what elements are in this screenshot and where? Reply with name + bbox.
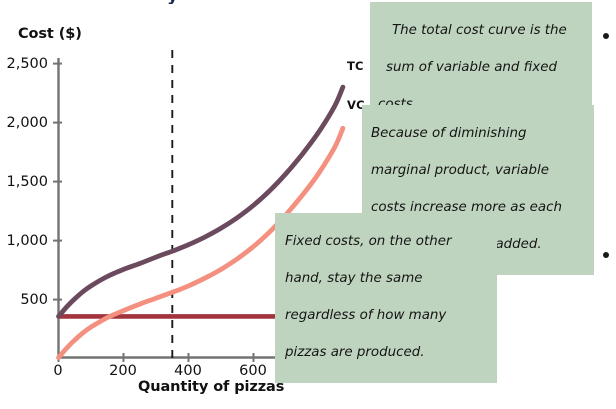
annotation-total-cost-line-2: sum of variable and fixed — [376, 59, 587, 78]
slide-bullet-icon-1 — [603, 33, 609, 39]
annotation-fixed-cost-line-3: regardless of how many — [281, 307, 492, 326]
annotation-fixed-cost-line-2: hand, stay the same — [281, 270, 492, 289]
annotation-total-cost-line-1: The total cost curve is the — [376, 22, 587, 41]
y-tick-label-1000: 1,000 — [0, 233, 48, 249]
y-tick-label-2500: 2,500 — [0, 56, 48, 72]
slide-canvas: y — [0, 0, 616, 409]
x-tick-label-200: 200 — [93, 363, 153, 379]
x-tick-label-600: 600 — [223, 363, 283, 379]
y-tick-label-2000: 2,000 — [0, 115, 48, 131]
annotation-fixed-cost: Fixed costs, on the other hand, stay the… — [275, 213, 497, 383]
annotation-fixed-cost-line-4: pizzas are produced. — [281, 344, 492, 363]
total-cost-curve-label: TC — [347, 59, 364, 73]
annotation-variable-cost-line-1: Because of diminishing — [368, 125, 589, 144]
annotation-fixed-cost-line-1: Fixed costs, on the other — [281, 233, 492, 252]
x-axis-title: Quantity of pizzas — [138, 379, 284, 395]
x-tick-label-0: 0 — [28, 363, 88, 379]
slide-bullet-icon-2 — [603, 252, 609, 258]
x-tick-label-400: 400 — [158, 363, 218, 379]
y-tick-label-500: 500 — [0, 292, 48, 308]
y-tick-label-1500: 1,500 — [0, 174, 48, 190]
y-axis-title: Cost ($) — [18, 26, 82, 42]
annotation-variable-cost-line-2: marginal product, variable — [368, 162, 589, 181]
